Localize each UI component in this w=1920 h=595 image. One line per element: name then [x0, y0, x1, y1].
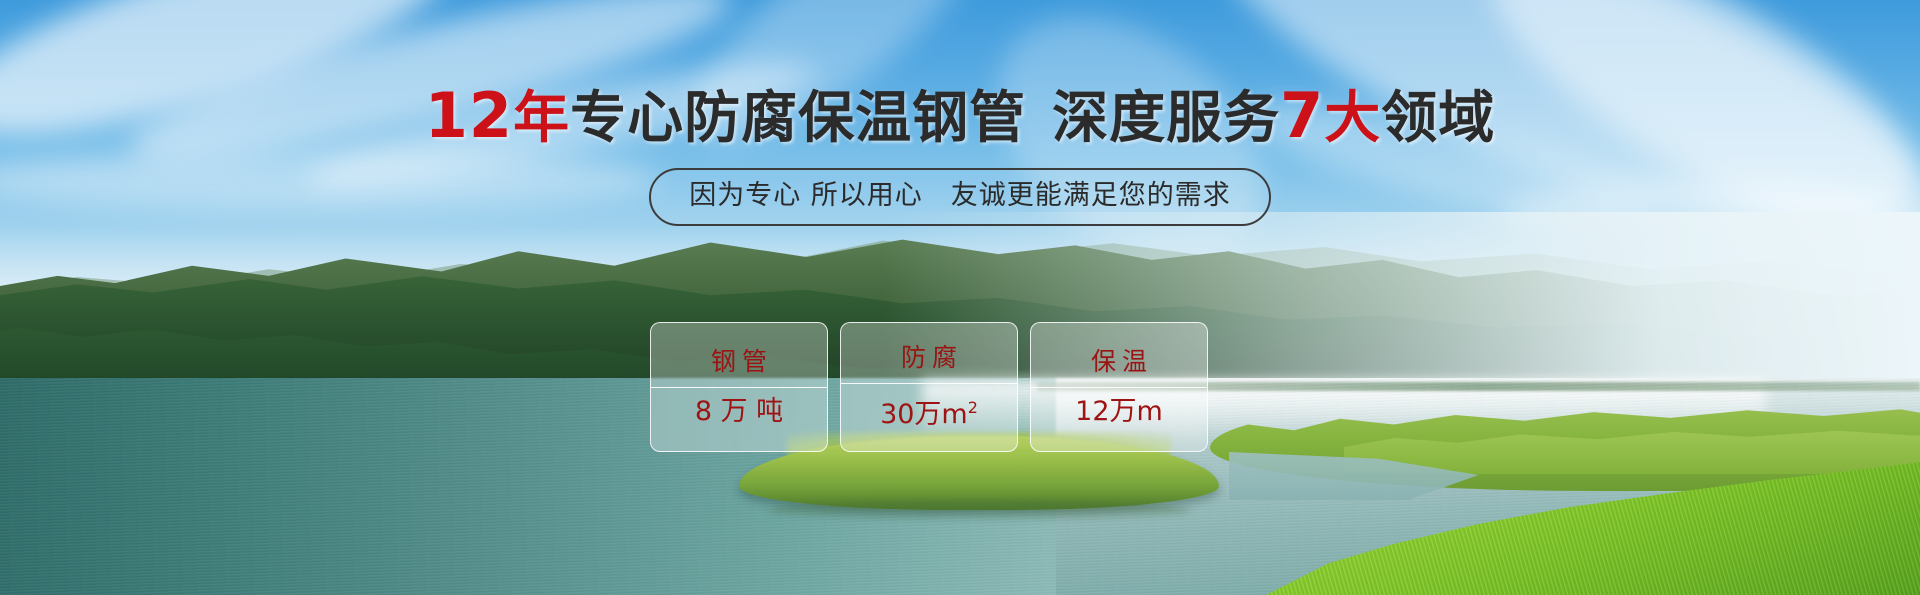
headline-segment-main: 专心防腐保温钢管: [570, 86, 1026, 151]
stat-label: 保温: [1085, 347, 1153, 377]
hero-banner: 12年专心防腐保温钢管深度服务7大领域 因为专心 所以用心 友诚更能满足您的需求…: [0, 0, 1920, 595]
stat-divider: [841, 383, 1017, 384]
stat-value: 30万m2: [880, 392, 978, 431]
stat-value-superscript: 2: [968, 398, 978, 417]
headline-years-unit: 年: [513, 86, 570, 151]
headline-segment-service: 深度服务: [1052, 86, 1280, 151]
stat-divider: [1031, 387, 1207, 388]
headline: 12年专心防腐保温钢管深度服务7大领域: [0, 85, 1920, 150]
stat-value: 8 万 吨: [695, 396, 783, 428]
subtitle-container: 因为专心 所以用心 友诚更能满足您的需求: [0, 168, 1920, 226]
stat-value-text: 8 万 吨: [695, 396, 783, 427]
headline-fields-unit: 大: [1324, 86, 1381, 151]
headline-years-number: 12: [425, 79, 513, 152]
stat-value-text: 30万m: [880, 399, 968, 430]
stat-value: 12万m: [1075, 396, 1163, 428]
stat-card-group: 钢管 8 万 吨 防腐 30万m2 保温 12万m: [650, 322, 1208, 452]
headline-segment-fields: 领域: [1381, 86, 1495, 151]
banner-content: 12年专心防腐保温钢管深度服务7大领域 因为专心 所以用心 友诚更能满足您的需求…: [0, 0, 1920, 595]
headline-fields-number: 7: [1280, 79, 1324, 152]
subtitle-pill: 因为专心 所以用心 友诚更能满足您的需求: [649, 168, 1271, 226]
stat-label: 钢管: [705, 347, 773, 377]
stat-label: 防腐: [895, 343, 963, 373]
stat-divider: [651, 387, 827, 388]
stat-value-text: 12万m: [1075, 396, 1163, 427]
stat-card-anticorrosion: 防腐 30万m2: [840, 322, 1018, 452]
stat-card-insulation: 保温 12万m: [1030, 322, 1208, 452]
stat-card-steel-pipe: 钢管 8 万 吨: [650, 322, 828, 452]
